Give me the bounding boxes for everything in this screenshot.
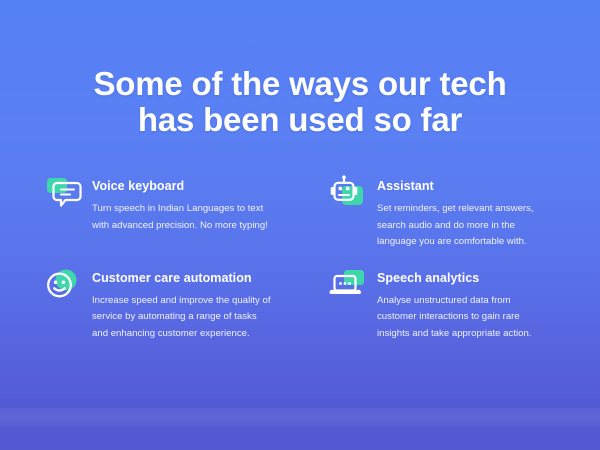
feature-item-customer-care-automation[interactable]: Customer care automation Increase speed … <box>44 264 329 343</box>
feature-item-speech-analytics[interactable]: Speech analytics Analyse unstructured da… <box>329 264 564 343</box>
feature-text-block: Voice keyboard Turn speech in Indian Lan… <box>92 172 329 234</box>
feature-grid: Voice keyboard Turn speech in Indian Lan… <box>44 172 564 342</box>
smiley-face-icon <box>44 265 82 303</box>
feature-item-voice-keyboard[interactable]: Voice keyboard Turn speech in Indian Lan… <box>44 172 329 251</box>
feature-title: Speech analytics <box>377 271 564 286</box>
feature-description: Set reminders, get relevant answers, sea… <box>377 201 549 251</box>
feature-title: Voice keyboard <box>92 179 329 194</box>
feature-item-assistant[interactable]: Assistant Set reminders, get relevant an… <box>329 172 564 251</box>
feature-title: Assistant <box>377 179 564 194</box>
feature-description: Turn speech in Indian Languages to text … <box>92 201 272 234</box>
robot-icon <box>329 173 367 211</box>
feature-description: Increase speed and improve the quality o… <box>92 293 272 343</box>
feature-text-block: Assistant Set reminders, get relevant an… <box>377 172 564 251</box>
presentation-slide: Some of the ways our tech has been used … <box>0 0 600 450</box>
laptop-icon <box>329 265 367 303</box>
speech-bubbles-icon <box>44 173 82 211</box>
feature-description: Analyse unstructured data from customer … <box>377 293 549 343</box>
feature-text-block: Speech analytics Analyse unstructured da… <box>377 264 564 343</box>
feature-text-block: Customer care automation Increase speed … <box>92 264 329 343</box>
feature-title: Customer care automation <box>92 271 329 286</box>
page-title: Some of the ways our tech has been used … <box>0 66 600 138</box>
bottom-accent-band <box>0 408 600 428</box>
